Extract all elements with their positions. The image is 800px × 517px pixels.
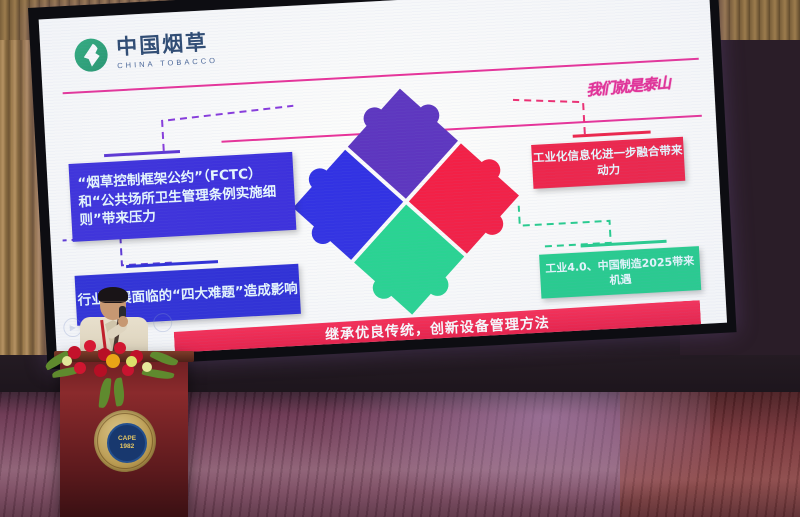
secondary-divider	[221, 115, 701, 143]
brand-name-cn: 中国烟草	[116, 32, 218, 58]
box-opportunity-underline	[581, 240, 667, 248]
emblem-acronym: CAPE	[118, 435, 136, 443]
floor-light-reflection	[300, 392, 710, 517]
emblem-year: 1982	[120, 443, 134, 451]
box-opportunity: 工业4.0、中国制造2025带来机遇	[539, 246, 701, 299]
box-pressure-underline	[104, 150, 180, 157]
calligraphy-slogan: 我们就是泰山	[585, 72, 671, 100]
presenter-hand	[118, 316, 128, 327]
box-integration: 工业化信息化进一步融合带来动力	[531, 137, 685, 189]
box-integration-underline	[573, 131, 651, 138]
box-pressure: “烟草控制框架公约”（FCTC）和“公共场所卫生管理条例实施细则”带来压力	[68, 152, 296, 242]
box-difficulties-underline	[126, 260, 218, 268]
emblem-center: CAPE 1982	[107, 423, 147, 463]
cape-emblem: CAPE 1982	[94, 410, 156, 472]
china-tobacco-leaf-logo	[74, 38, 109, 73]
minus-icon[interactable]: −	[153, 313, 173, 333]
flower-arrangement	[38, 334, 198, 396]
brand-logo: 中国烟草 CHINA TOBACCO	[74, 32, 218, 73]
screenshot-root: 中国烟草 CHINA TOBACCO 我们就是泰山	[0, 0, 800, 517]
